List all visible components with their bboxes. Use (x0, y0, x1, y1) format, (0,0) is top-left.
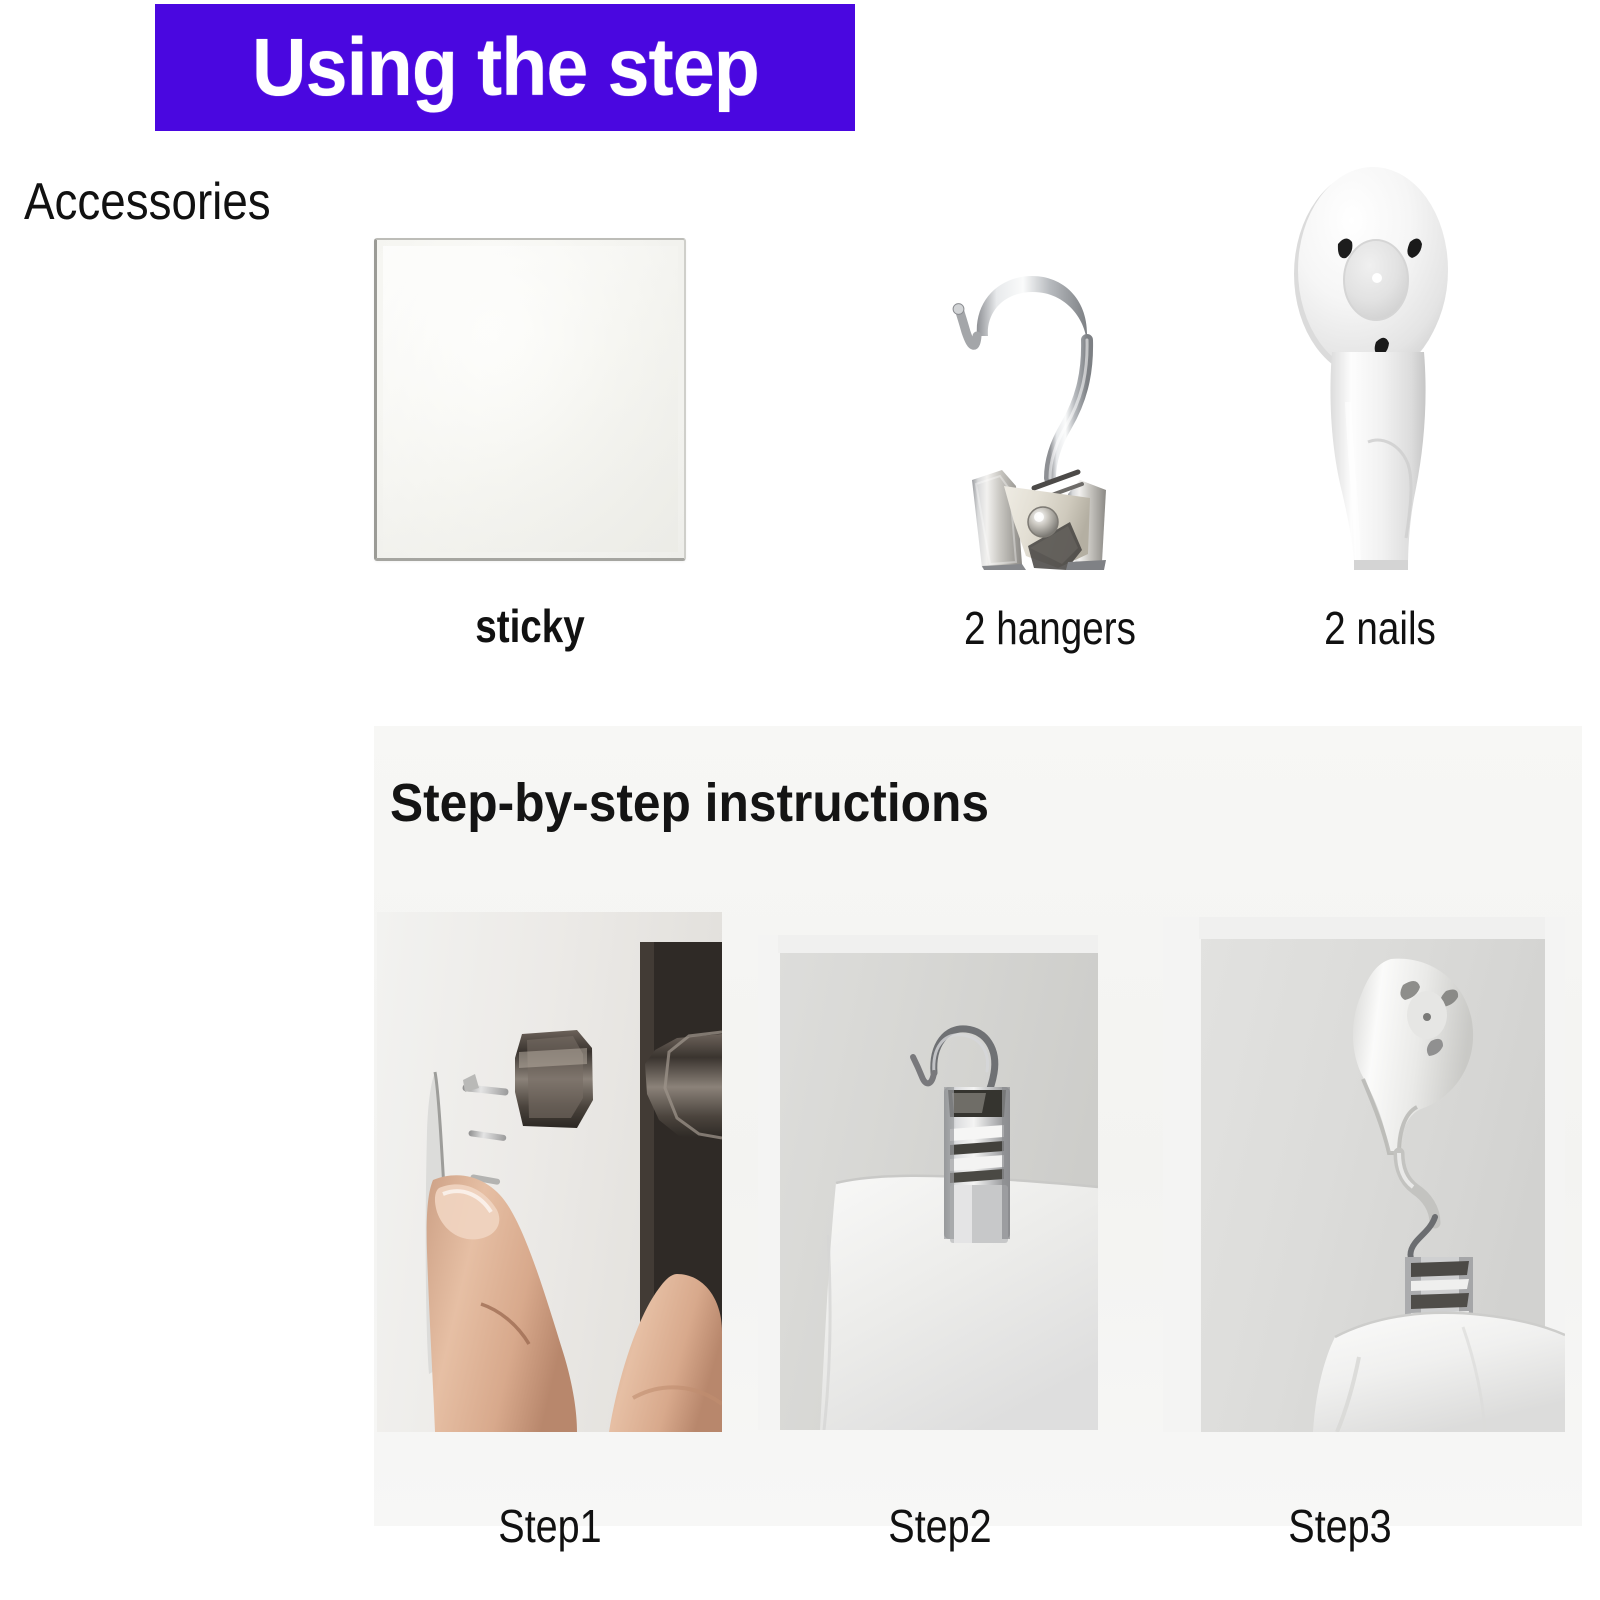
wall-hook-icon (1258, 152, 1488, 582)
instructions-heading: Step-by-step instructions (390, 772, 989, 834)
step-label-3: Step3 (1211, 1498, 1469, 1554)
adhesive-square-icon (374, 238, 686, 561)
step-label-1: Step1 (421, 1498, 679, 1554)
step-photo-3 (1163, 917, 1565, 1432)
accessory-label-hangers: 2 hangers (924, 602, 1176, 654)
step-photo-1 (377, 912, 722, 1432)
header-banner: Using the step (155, 4, 855, 131)
page-title: Using the step (252, 27, 759, 109)
accessory-label-sticky: sticky (404, 600, 656, 652)
accessories-heading: Accessories (24, 172, 271, 232)
hook-clip-icon (930, 150, 1140, 570)
accessory-label-nails: 2 nails (1279, 602, 1481, 654)
infographic-page: Using the step Accessories (0, 0, 1600, 1600)
step-label-2: Step2 (811, 1498, 1069, 1554)
step-photo-2 (758, 935, 1098, 1430)
